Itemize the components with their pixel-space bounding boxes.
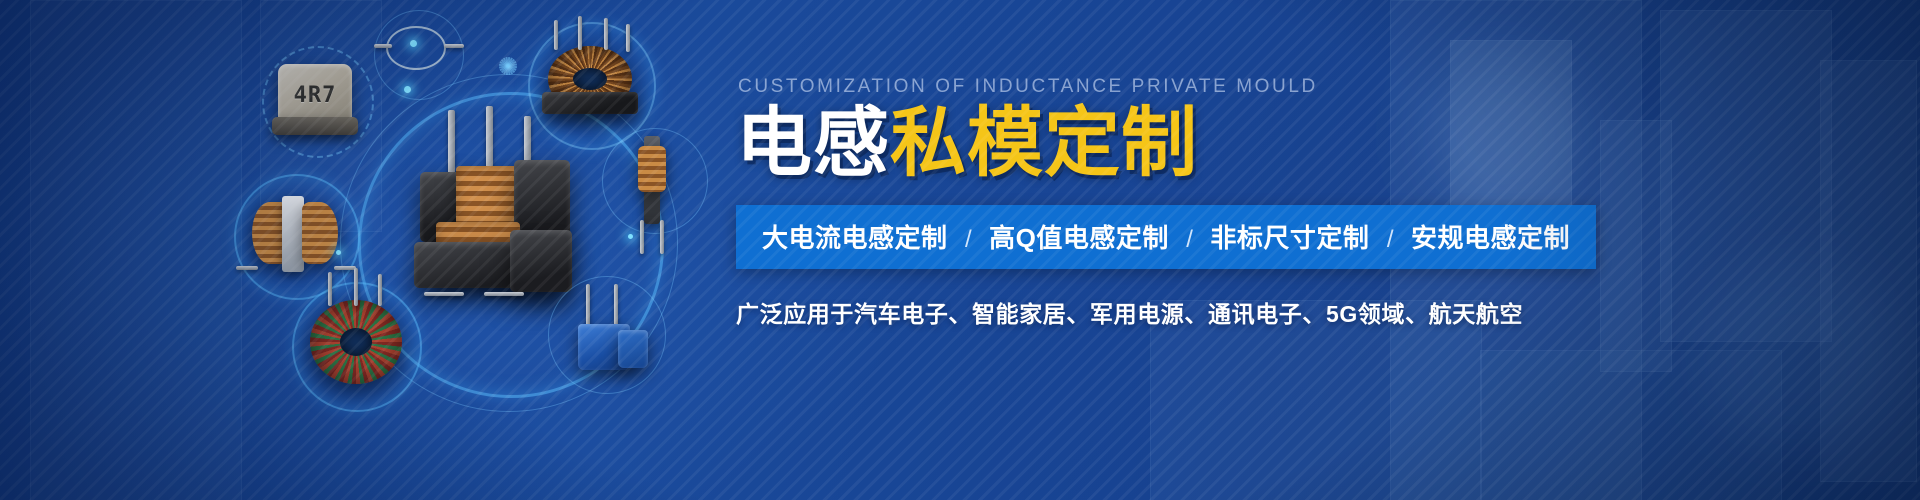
eyebrow-text: CUSTOMIZATION OF INDUCTANCE PRIVATE MOUL… (738, 76, 1736, 98)
feature-item-3: 非标尺寸定制 (1210, 223, 1369, 253)
accent-dot-1 (404, 86, 411, 93)
feature-separator-2: / (1173, 226, 1206, 253)
feature-item-1: 大电流电感定制 (762, 223, 948, 253)
color-ring-toroid (310, 300, 402, 384)
inductance-customization-banner: 4R7 (0, 0, 1920, 500)
feature-item-4: 安规电感定制 (1411, 223, 1570, 253)
product-collage: 4R7 (0, 0, 720, 500)
accent-dot-3 (628, 234, 633, 239)
feature-bar: 大电流电感定制 / 高Q值电感定制 / 非标尺寸定制 / 安规电感定制 (736, 205, 1596, 269)
toroidal-common-mode-choke (548, 46, 632, 112)
page-title: 电感私模定制 (736, 104, 1736, 185)
feature-separator-3: / (1374, 226, 1407, 253)
accent-dot-2 (336, 250, 341, 255)
chip-marking-label: 4R7 (294, 83, 337, 108)
banner-copy: CUSTOMIZATION OF INDUCTANCE PRIVATE MOUL… (736, 76, 1736, 329)
application-description: 广泛应用于汽车电子、智能家居、军用电源、通讯电子、5G领域、航天航空 (736, 295, 1736, 329)
feature-item-2: 高Q值电感定制 (989, 223, 1169, 253)
feature-separator-1: / (952, 226, 985, 253)
headline-gold-part: 私模定制 (890, 101, 1198, 186)
smd-power-inductor: 4R7 (278, 64, 352, 126)
headline-white-part: 电感 (736, 101, 890, 186)
